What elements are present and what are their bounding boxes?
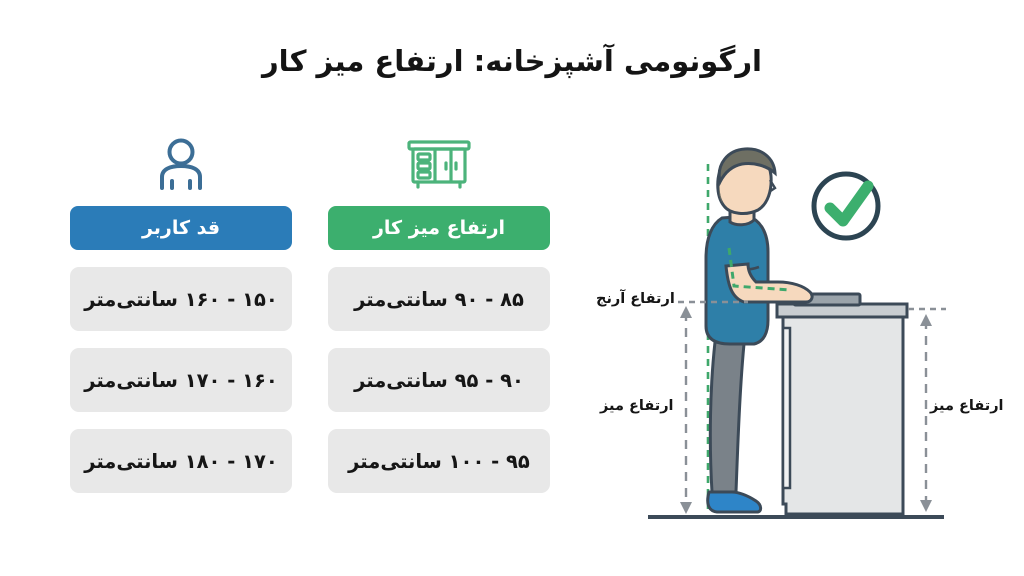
table-cell: ۸۵ - ۹۰ سانتی‌متر: [328, 267, 550, 331]
table-cell: ۹۵ - ۱۰۰ سانتی‌متر: [328, 429, 550, 493]
label-table-height-right: ارتفاع میز: [930, 398, 1004, 414]
page-title: ارگونومی آشپزخانه: ارتفاع میز کار: [0, 44, 1024, 78]
table-cell: ۹۰ - ۹۵ سانتی‌متر: [328, 348, 550, 412]
label-table-height-left: ارتفاع میز: [600, 398, 674, 414]
infographic-page: ارگونومی آشپزخانه: ارتفاع میز کار قد کار…: [0, 0, 1024, 576]
person-icon: [70, 128, 292, 194]
column-header-counter-height: ارتفاع میز کار: [328, 206, 550, 250]
column-user-height: قد کاربر ۱۵۰ - ۱۶۰ سانتی‌متر ۱۶۰ - ۱۷۰ س…: [70, 128, 292, 493]
column-counter-height: ارتفاع میز کار ۸۵ - ۹۰ سانتی‌متر ۹۰ - ۹۵…: [328, 128, 550, 493]
column-header-user-height: قد کاربر: [70, 206, 292, 250]
table-cell: ۱۷۰ - ۱۸۰ سانتی‌متر: [70, 429, 292, 493]
ergonomics-svg: [578, 126, 1024, 546]
label-elbow-height: ارتفاع آرنج: [596, 291, 675, 307]
check-circle-icon: [814, 174, 878, 238]
counter-cabinet: [777, 294, 907, 514]
ergonomics-diagram: ارتفاع آرنج ارتفاع میز ارتفاع میز: [578, 126, 1024, 546]
cabinet-icon: [328, 128, 550, 194]
recommendation-table: قد کاربر ۱۵۰ - ۱۶۰ سانتی‌متر ۱۶۰ - ۱۷۰ س…: [60, 128, 580, 508]
table-cell: ۱۶۰ - ۱۷۰ سانتی‌متر: [70, 348, 292, 412]
table-cell: ۱۵۰ - ۱۶۰ سانتی‌متر: [70, 267, 292, 331]
left-dimension-line: [680, 306, 692, 514]
